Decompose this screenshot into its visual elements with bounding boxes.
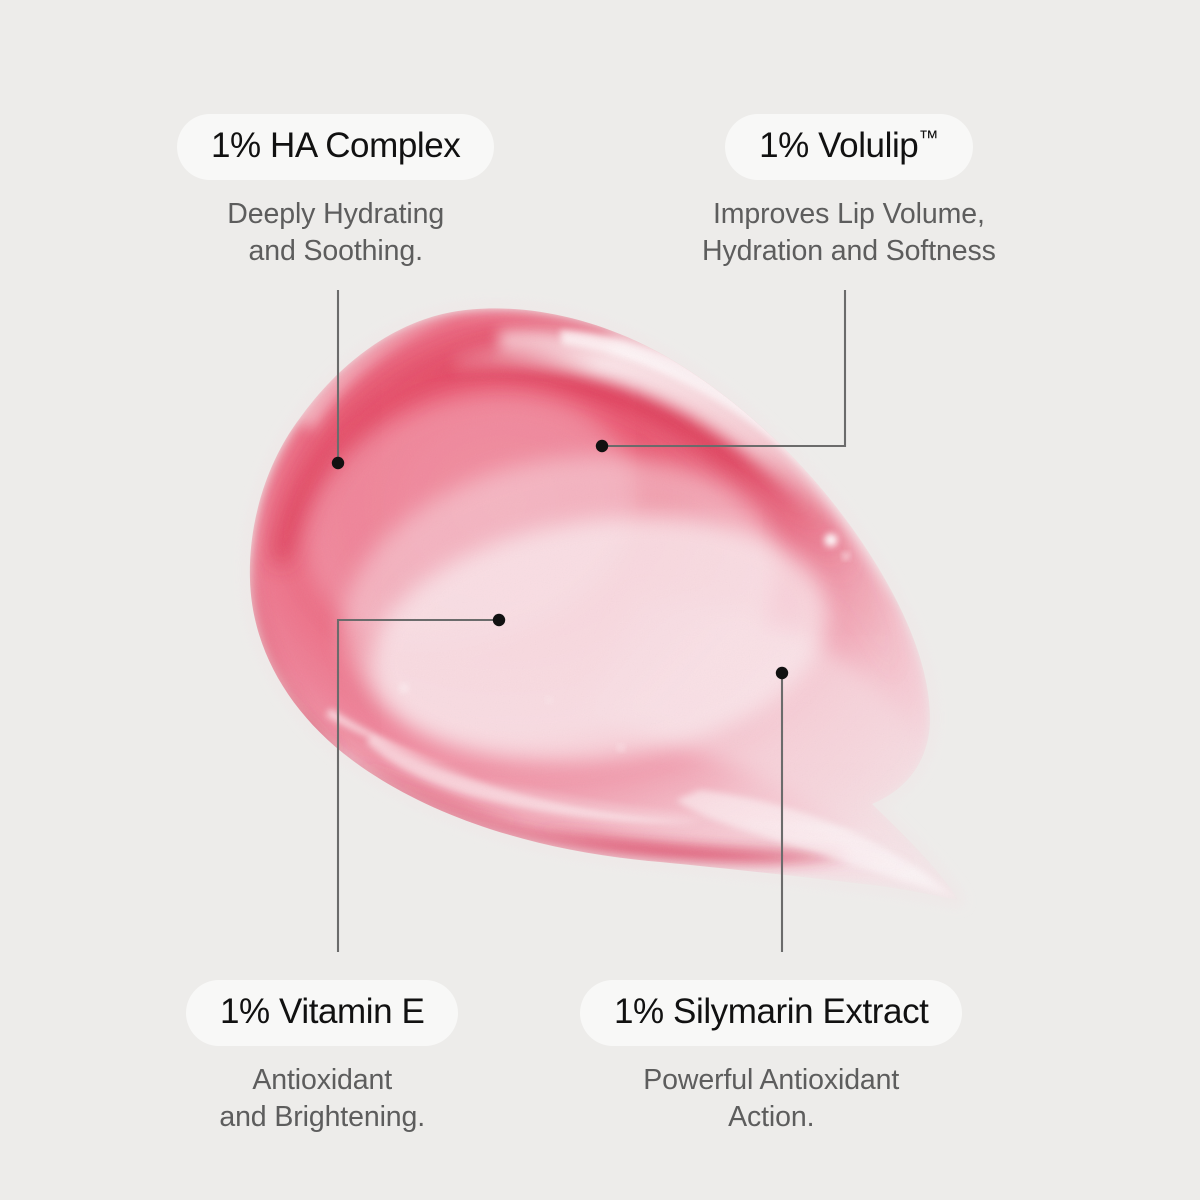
ingredient-pill-vitamin-e[interactable]: 1% Vitamin E [186, 980, 458, 1046]
callout-ha-complex: 1% HA Complex Deeply Hydrating and Sooth… [177, 114, 494, 270]
ingredient-caption-volulip: Improves Lip Volume, Hydration and Softn… [702, 196, 996, 270]
trademark-symbol: ™ [918, 127, 938, 149]
ingredient-title-silymarin: 1% Silymarin Extract [614, 992, 928, 1031]
callout-vitamin-e: 1% Vitamin E Antioxidant and Brightening… [186, 980, 458, 1136]
callout-silymarin: 1% Silymarin Extract Powerful Antioxidan… [580, 980, 962, 1136]
ingredient-caption-ha-complex: Deeply Hydrating and Soothing. [227, 196, 444, 270]
infographic-canvas: 1% HA Complex Deeply Hydrating and Sooth… [0, 0, 1200, 1200]
ingredient-caption-silymarin: Powerful Antioxidant Action. [643, 1062, 899, 1136]
ingredient-title-vitamin-e: 1% Vitamin E [220, 992, 424, 1031]
ingredient-caption-vitamin-e: Antioxidant and Brightening. [219, 1062, 425, 1136]
ingredient-title-volulip: 1% Volulip [759, 126, 918, 165]
ingredient-pill-silymarin[interactable]: 1% Silymarin Extract [580, 980, 962, 1046]
callout-volulip: 1% Volulip™ Improves Lip Volume, Hydrati… [702, 114, 996, 270]
ingredient-pill-volulip[interactable]: 1% Volulip™ [725, 114, 973, 180]
ingredient-pill-ha-complex[interactable]: 1% HA Complex [177, 114, 494, 180]
ingredient-title-ha-complex: 1% HA Complex [211, 126, 460, 165]
